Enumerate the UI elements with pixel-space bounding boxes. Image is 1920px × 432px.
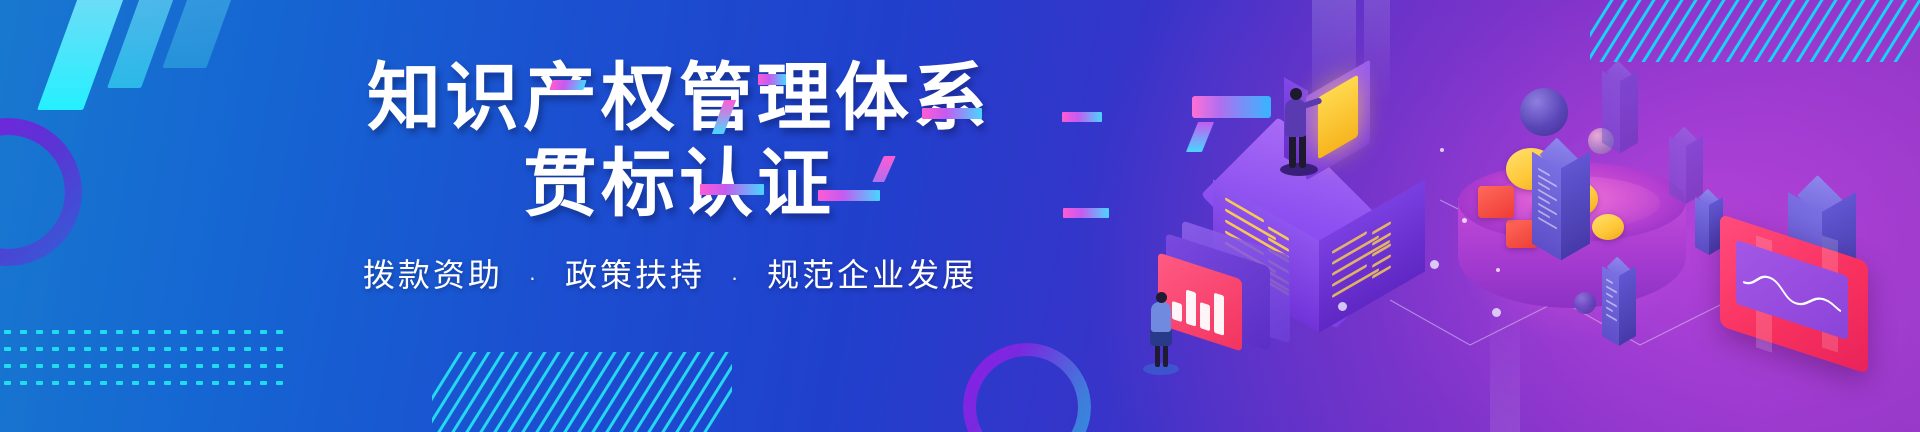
promo-banner: 知识产权管理体系 贯标认证 拨款资助 · 政策扶持 · 规范: [0, 0, 1920, 432]
spark-dot: [1440, 148, 1444, 152]
person-skirt: [1150, 330, 1172, 346]
person-head: [1290, 88, 1302, 100]
subtitle-item-2: 政策扶持: [565, 257, 705, 293]
bar: [1172, 301, 1182, 322]
headline-group: 知识产权管理体系 贯标认证: [0, 56, 1340, 226]
dark-sphere: [1520, 88, 1568, 136]
bar: [1200, 302, 1210, 331]
subtitle-separator: ·: [717, 265, 755, 290]
bar-chart-screen-group: [1158, 238, 1290, 344]
headline-line-1: 知识产权管理体系: [0, 56, 1340, 140]
detail-line: [1606, 313, 1617, 322]
isometric-illustration: [1140, 0, 1920, 432]
detail-line: [1606, 306, 1613, 312]
person-leg: [1155, 345, 1160, 367]
spark-dot: [1462, 218, 1467, 223]
connector-node: [1430, 260, 1439, 269]
bar: [1214, 293, 1224, 336]
headline-line-2: 贯标认证: [0, 142, 1340, 226]
subtitle-separator: ·: [515, 265, 553, 290]
person-leg: [1163, 345, 1168, 367]
coin: [1592, 214, 1624, 240]
detail-line: [1606, 292, 1613, 298]
connector-node: [1338, 302, 1347, 311]
bar: [1186, 289, 1196, 326]
progress-bar-decoration: [1192, 96, 1271, 118]
connector-node: [1492, 308, 1501, 317]
person-body: [1151, 302, 1171, 332]
spark-dot: [1496, 268, 1500, 272]
person-leg: [1289, 134, 1296, 168]
small-sphere: [1574, 292, 1596, 314]
subtitle-item-1: 拨款资助: [363, 257, 503, 293]
person-head: [1156, 292, 1167, 303]
banner-copy: 知识产权管理体系 贯标认证 拨款资助 · 政策扶持 · 规范: [0, 0, 1340, 432]
subtitle-item-3: 规范企业发展: [767, 257, 977, 293]
chart-panel: [1720, 238, 1868, 350]
red-cube: [1478, 186, 1514, 218]
person-shadow: [1143, 363, 1179, 375]
detail-line: [1538, 217, 1557, 230]
subtitle: 拨款资助 · 政策扶持 · 规范企业发展: [0, 250, 1340, 296]
person-leg: [1299, 134, 1306, 168]
